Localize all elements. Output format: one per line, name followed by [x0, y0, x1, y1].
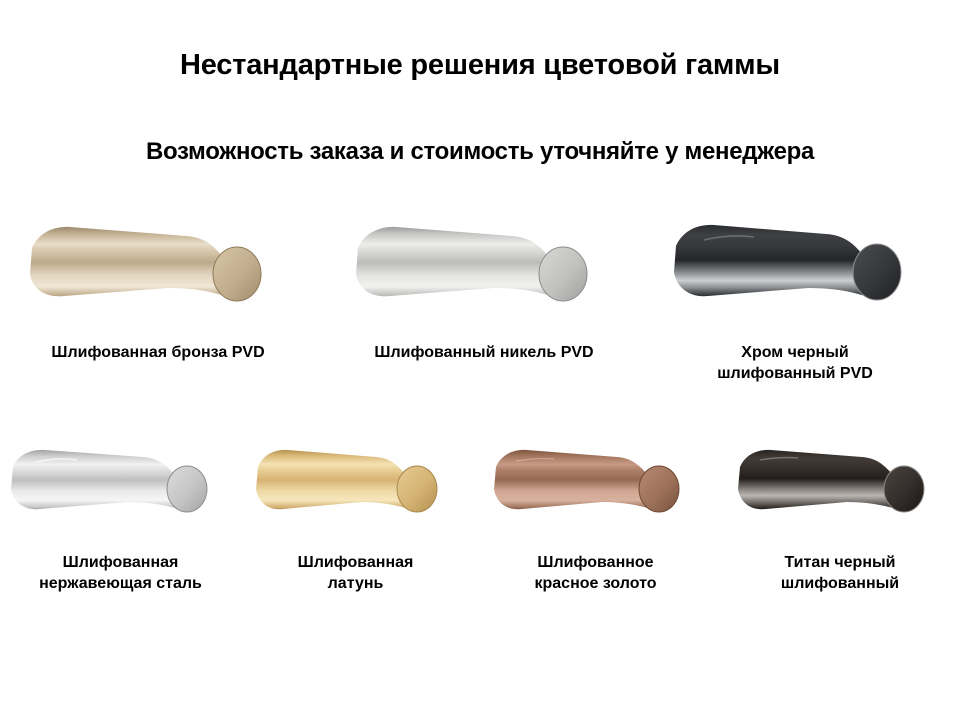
finish-swatch-stainless-steel[interactable]: Шлифованная нержавеющая сталь: [2, 438, 239, 594]
handle-image-red-gold: [486, 438, 705, 520]
finish-swatch-black-chrome[interactable]: Хром черный шлифованный PVD: [664, 212, 926, 384]
finish-label: Шлифованный никель PVD: [344, 342, 624, 363]
door-handle-icon: [248, 438, 463, 520]
finish-label: Шлифованная нержавеющая сталь: [2, 552, 239, 594]
handle-image-brass: [248, 438, 463, 520]
finish-swatch-red-gold[interactable]: Шлифованное красное золото: [486, 438, 705, 594]
handle-image-black-chrome: [664, 212, 926, 312]
handle-image-bronze: [18, 212, 298, 312]
door-handle-icon: [730, 438, 950, 520]
finish-swatch-brass[interactable]: Шлифованная латунь: [248, 438, 463, 594]
handle-image-stainless-steel: [2, 438, 239, 520]
door-handle-icon: [344, 212, 624, 312]
finish-label: Шлифованная латунь: [248, 552, 463, 594]
finish-swatch-nickel[interactable]: Шлифованный никель PVD: [344, 212, 624, 363]
door-handle-icon: [18, 212, 298, 312]
handle-image-nickel: [344, 212, 624, 312]
finish-swatch-bronze[interactable]: Шлифованная бронза PVD: [18, 212, 298, 363]
door-handle-icon: [664, 212, 926, 312]
page-title: Нестандартные решения цветовой гаммы: [0, 50, 960, 82]
finish-label: Шлифованная бронза PVD: [18, 342, 298, 363]
finish-label: Титан черный шлифованный: [730, 552, 950, 594]
finish-swatch-black-titanium[interactable]: Титан черный шлифованный: [730, 438, 950, 594]
finish-label: Хром черный шлифованный PVD: [664, 342, 926, 384]
door-handle-icon: [2, 438, 239, 520]
finish-label: Шлифованное красное золото: [486, 552, 705, 594]
handle-image-black-titanium: [730, 438, 950, 520]
page-subtitle: Возможность заказа и стоимость уточняйте…: [0, 139, 960, 165]
door-handle-icon: [486, 438, 705, 520]
